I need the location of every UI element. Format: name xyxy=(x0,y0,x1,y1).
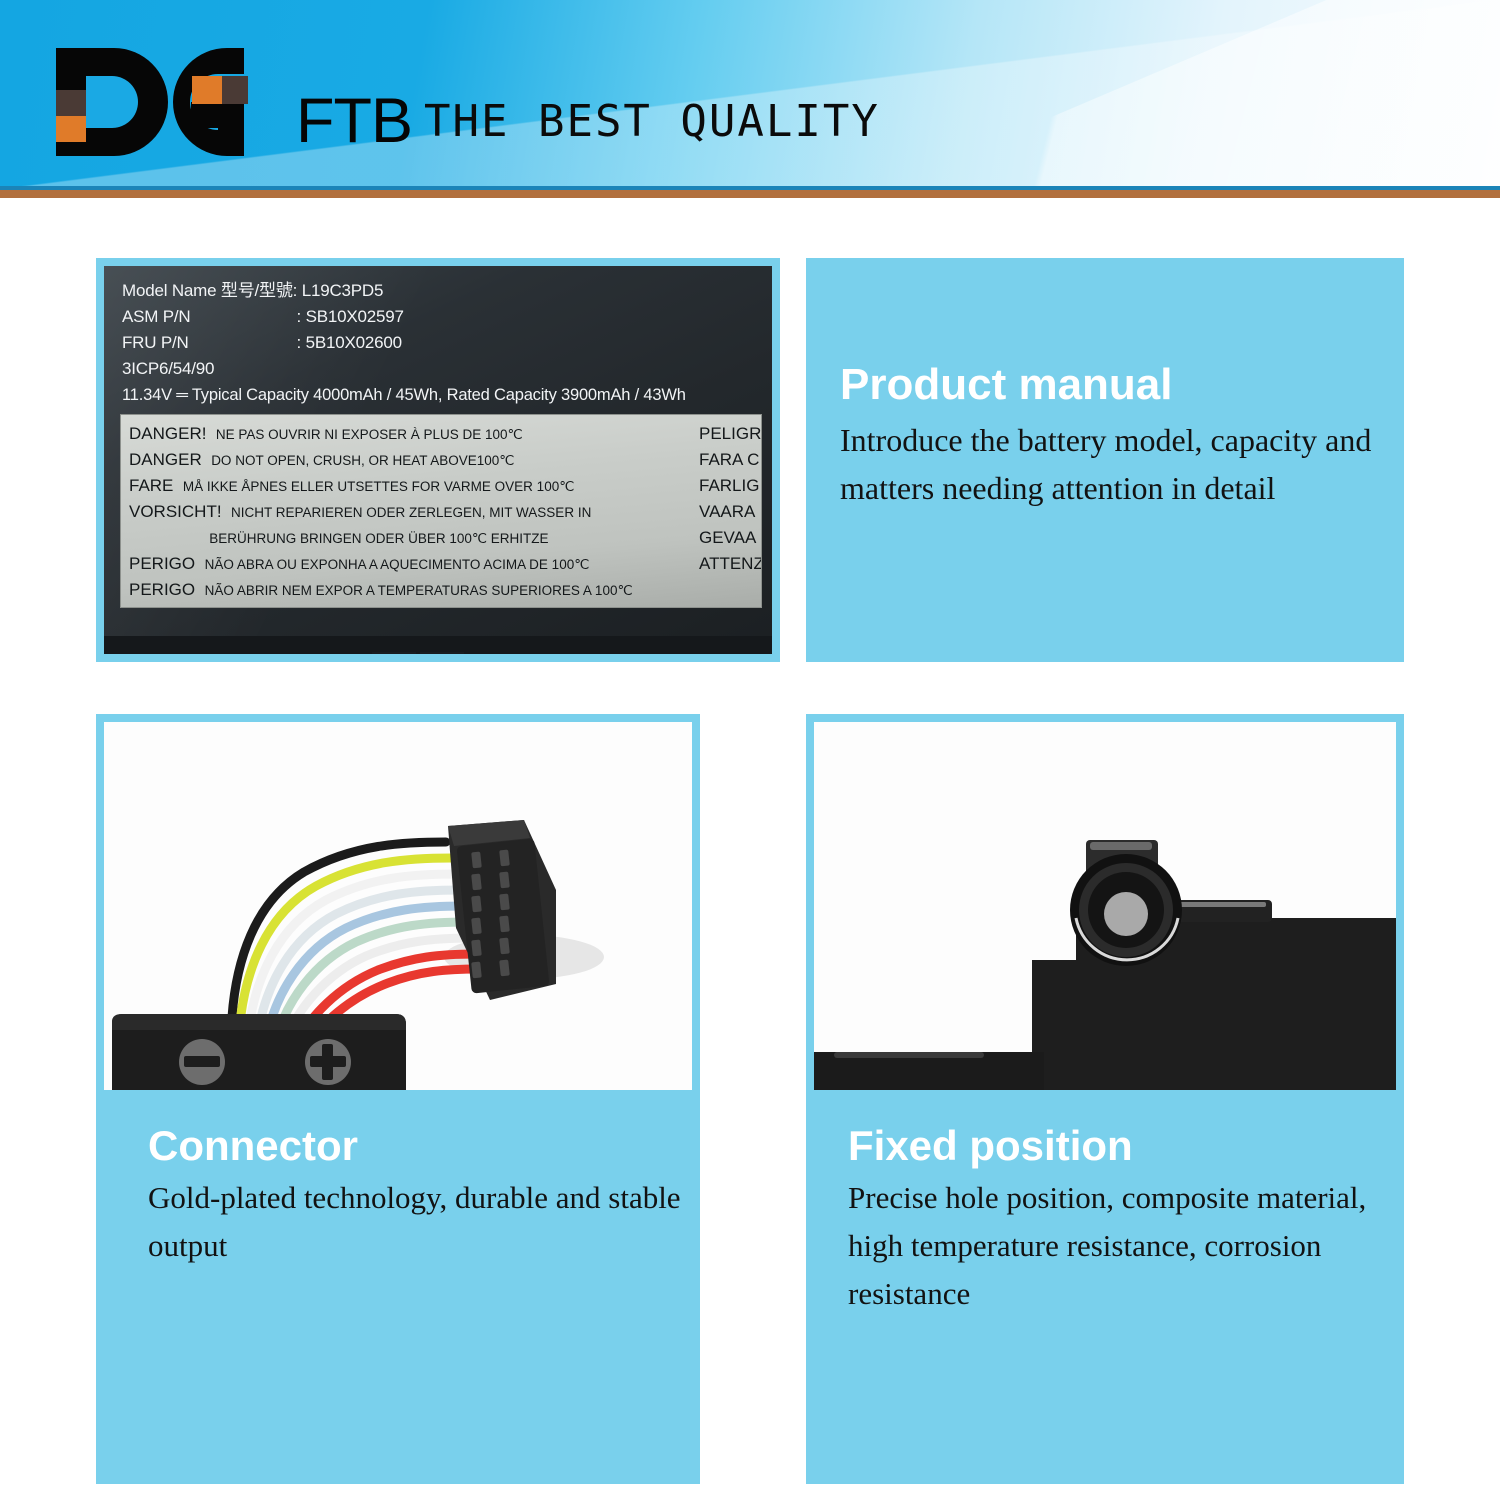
logo-dg-mark xyxy=(52,46,302,158)
battery-label-photo: Model Name 型号/型號: L19C3PD5 ASM P/N : SB1… xyxy=(104,266,772,654)
product-manual-title: Product manual xyxy=(840,362,1384,408)
minus-terminal xyxy=(179,1039,225,1085)
logo-dg-svg xyxy=(52,46,302,158)
warning-panel: DANGER! NE PAS OUVRIR NI EXPOSER À PLUS … xyxy=(120,414,762,608)
warning-lead: VORSICHT! xyxy=(129,502,231,521)
logo-ftb-text: FTB xyxy=(296,90,412,153)
warning-text: NE PAS OUVRIR NI EXPOSER À PLUS DE 100℃ xyxy=(216,427,523,442)
warning-text: BERÜHRUNG BRINGEN ODER ÜBER 100℃ ERHITZE xyxy=(209,531,548,546)
fixed-position-card: Fixed position Precise hole position, co… xyxy=(806,714,1404,1484)
warning-row: BERÜHRUNG BRINGEN ODER ÜBER 100℃ ERHITZE xyxy=(129,525,689,551)
connector-title: Connector xyxy=(148,1124,682,1168)
warning-lead-clipped: PELIGR xyxy=(699,424,761,443)
spec-asm-row: ASM P/N : SB10X02597 xyxy=(122,304,686,330)
spec-model-key: Model Name xyxy=(122,281,216,300)
warning-lead-clipped: VAARA xyxy=(699,502,755,521)
connector-illustration xyxy=(104,722,692,1090)
spec-fru-value: : 5B10X02600 xyxy=(297,333,402,352)
warning-row-clipped: FARLIG xyxy=(699,473,762,499)
warning-text: DO NOT OPEN, CRUSH, OR HEAT ABOVE100℃ xyxy=(211,453,514,468)
battery-label-card: Model Name 型号/型號: L19C3PD5 ASM P/N : SB1… xyxy=(96,258,780,662)
spec-asm-value: : SB10X02597 xyxy=(297,307,404,326)
warning-lead: PERIGO xyxy=(129,554,205,573)
battery-tab-left xyxy=(372,652,416,654)
plus-terminal xyxy=(305,1039,351,1085)
warning-row-clipped: VAARA xyxy=(699,499,762,525)
spec-model-key-cjk: 型号/型號: xyxy=(221,281,297,300)
mounting-hole-illustration xyxy=(814,722,1396,1090)
connector-photo xyxy=(104,722,692,1090)
warning-lead xyxy=(129,528,209,547)
warning-text: NICHT REPARIEREN ODER ZERLEGEN, MIT WASS… xyxy=(231,505,591,520)
brand-logo: FTB xyxy=(52,46,412,158)
warning-text: NÃO ABRIR NEM EXPOR A TEMPERATURAS SUPER… xyxy=(205,583,633,598)
spec-asm-key: ASM P/N xyxy=(122,304,292,330)
warning-text: NÃO ABRA OU EXPONHA A AQUECIMENTO ACIMA … xyxy=(205,557,590,572)
warning-row: PERIGO NÃO ABRA OU EXPONHA A AQUECIMENTO… xyxy=(129,551,689,577)
spec-model-row: Model Name 型号/型號: L19C3PD5 xyxy=(122,278,686,304)
spec-cell-code: 3ICP6/54/90 xyxy=(122,356,686,382)
warning-row: DANGER DO NOT OPEN, CRUSH, OR HEAT ABOVE… xyxy=(129,447,689,473)
fixed-position-body: Precise hole position, composite materia… xyxy=(848,1174,1390,1318)
warning-text: MÅ IKKE ÅPNES ELLER UTSETTES FOR VARME O… xyxy=(183,479,575,494)
fixed-position-title: Fixed position xyxy=(848,1124,1390,1168)
header-rule-orange xyxy=(0,190,1500,198)
warning-row: FARE MÅ IKKE ÅPNES ELLER UTSETTES FOR VA… xyxy=(129,473,689,499)
warning-column-right: PELIGRFARA СFARLIGVAARAGEVAAATTENZ xyxy=(699,421,762,577)
page-header: FTB THE BEST QUALITY xyxy=(0,0,1500,190)
connector-text-block: Connector Gold-plated technology, durabl… xyxy=(148,1124,682,1270)
spec-fru-key: FRU P/N xyxy=(122,330,292,356)
warning-row-clipped: GEVAA xyxy=(699,525,762,551)
spec-power-line: 11.34V ═ Typical Capacity 4000mAh / 45Wh… xyxy=(122,382,686,408)
header-tagline: THE BEST QUALITY xyxy=(424,96,880,147)
product-manual-body: Introduce the battery model, capacity an… xyxy=(840,416,1384,512)
connector-body: Gold-plated technology, durable and stab… xyxy=(148,1174,682,1270)
fixed-position-text-block: Fixed position Precise hole position, co… xyxy=(848,1124,1390,1318)
warning-row: DANGER! NE PAS OUVRIR NI EXPOSER À PLUS … xyxy=(129,421,689,447)
warning-row-clipped: PELIGR xyxy=(699,421,762,447)
warning-lead: FARE xyxy=(129,476,183,495)
battery-edge xyxy=(112,1014,406,1090)
warning-lead-clipped: FARLIG xyxy=(699,476,759,495)
fixed-position-photo xyxy=(814,722,1396,1090)
warning-row: PERIGO NÃO ABRIR NEM EXPOR A TEMPERATURA… xyxy=(129,577,689,603)
warning-lead-clipped: FARA С xyxy=(699,450,759,469)
spec-fru-row: FRU P/N : 5B10X02600 xyxy=(122,330,686,356)
product-manual-panel: Product manual Introduce the battery mod… xyxy=(806,258,1404,662)
spec-model-value: L19C3PD5 xyxy=(302,281,384,300)
warning-lead-clipped: ATTENZ xyxy=(699,554,762,573)
warning-row-clipped: ATTENZ xyxy=(699,551,762,577)
warning-lead: DANGER xyxy=(129,450,211,469)
battery-spec-text: Model Name 型号/型號: L19C3PD5 ASM P/N : SB1… xyxy=(122,278,686,408)
product-manual-content: Product manual Introduce the battery mod… xyxy=(840,362,1384,512)
warning-column-left: DANGER! NE PAS OUVRIR NI EXPOSER À PLUS … xyxy=(129,421,689,603)
connector-card: Connector Gold-plated technology, durabl… xyxy=(96,714,700,1484)
warning-row: VORSICHT! NICHT REPARIEREN ODER ZERLEGEN… xyxy=(129,499,689,525)
warning-lead: PERIGO xyxy=(129,580,205,599)
warning-row-clipped: FARA С xyxy=(699,447,762,473)
warning-lead-clipped: GEVAA xyxy=(699,528,756,547)
warning-lead: DANGER! xyxy=(129,424,216,443)
battery-tab-right xyxy=(420,652,464,654)
